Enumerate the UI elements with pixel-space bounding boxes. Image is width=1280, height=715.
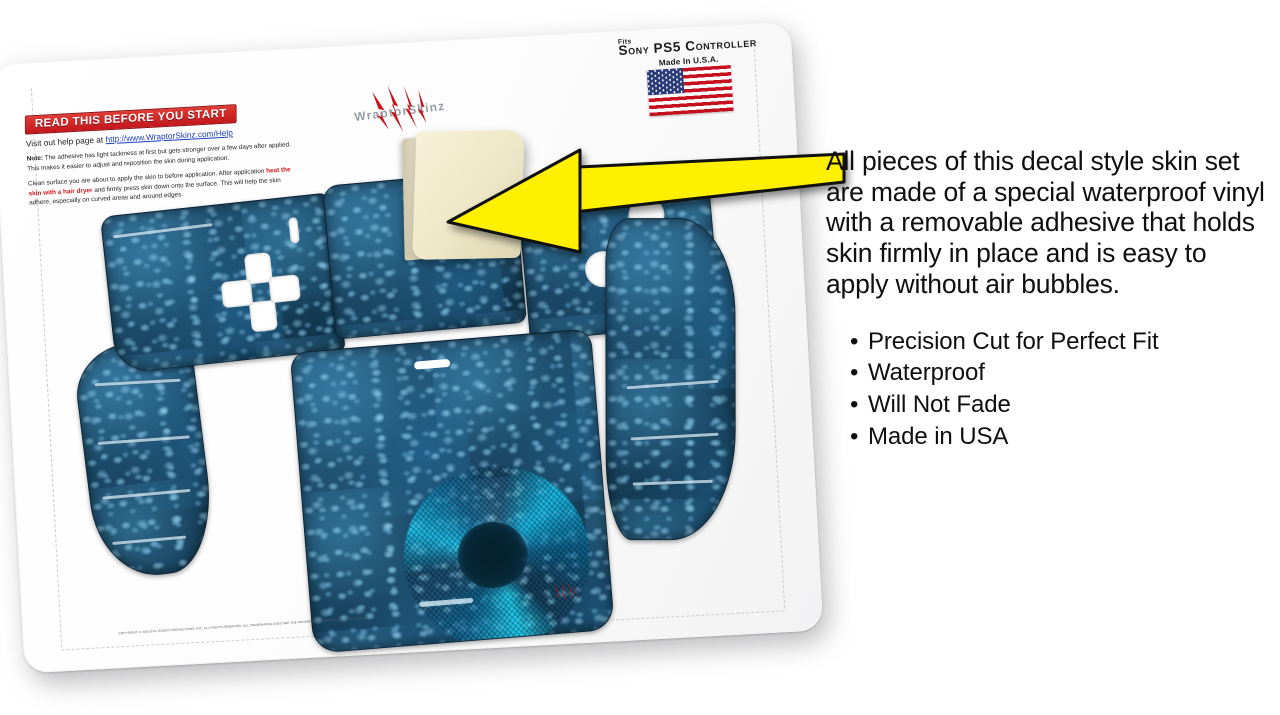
- usa-flag-icon: [647, 64, 734, 115]
- dpad-right-cutout: [268, 274, 301, 303]
- help-page-link[interactable]: http://www.WraptorSkinz.com/Help: [105, 127, 233, 144]
- dpad-down-cutout: [249, 300, 278, 333]
- skin-backing-sheet: READ THIS BEFORE YOU START Visit out hel…: [0, 21, 823, 673]
- relief-slit: [112, 535, 186, 545]
- skin-piece-top-left-faceplate: [100, 192, 345, 374]
- yellow-pointer-arrow: [440, 148, 850, 258]
- marketing-paragraph: All pieces of this decal style skin set …: [826, 146, 1272, 300]
- marketing-copy: All pieces of this decal style skin set …: [826, 146, 1272, 452]
- feature-bullet: Waterproof: [850, 357, 1272, 389]
- feature-bullet: Will Not Fade: [850, 389, 1272, 421]
- feature-bullet: Made in USA: [850, 421, 1272, 453]
- feature-bullet-list: Precision Cut for Perfect Fit Waterproof…: [850, 326, 1272, 453]
- feature-bullet: Precision Cut for Perfect Fit: [850, 326, 1272, 358]
- perforation-line-right: [754, 49, 785, 608]
- instructions-block: READ THIS BEFORE YOU START Visit out hel…: [24, 100, 299, 209]
- relief-slit: [113, 223, 213, 238]
- relief-slit: [95, 379, 181, 387]
- skin-sheet-photo: READ THIS BEFORE YOU START Visit out hel…: [0, 21, 834, 694]
- relief-slit: [103, 489, 191, 500]
- relief-slit: [98, 435, 190, 445]
- dpad-left-cutout: [221, 279, 254, 308]
- small-claw-watermark-icon: [550, 579, 582, 603]
- skin-piece-left-grip: [71, 335, 219, 582]
- help-prefix-text: Visit out help page at: [26, 134, 106, 148]
- note-label: Note:: [27, 155, 44, 163]
- fits-model-block: Fits Sony PS5 Controller Made In U.S.A.: [618, 30, 761, 117]
- skin-piece-bottom-panel: [290, 328, 615, 653]
- relief-slit: [633, 480, 713, 486]
- share-button-cutout: [288, 217, 300, 244]
- skin-piece-right-grip: [605, 218, 736, 540]
- relief-slit: [627, 380, 719, 390]
- touchpad-slot-cutout: [414, 359, 451, 370]
- relief-slit: [631, 433, 719, 441]
- flag-stars: [647, 68, 685, 95]
- dpad-cutout: [218, 249, 302, 335]
